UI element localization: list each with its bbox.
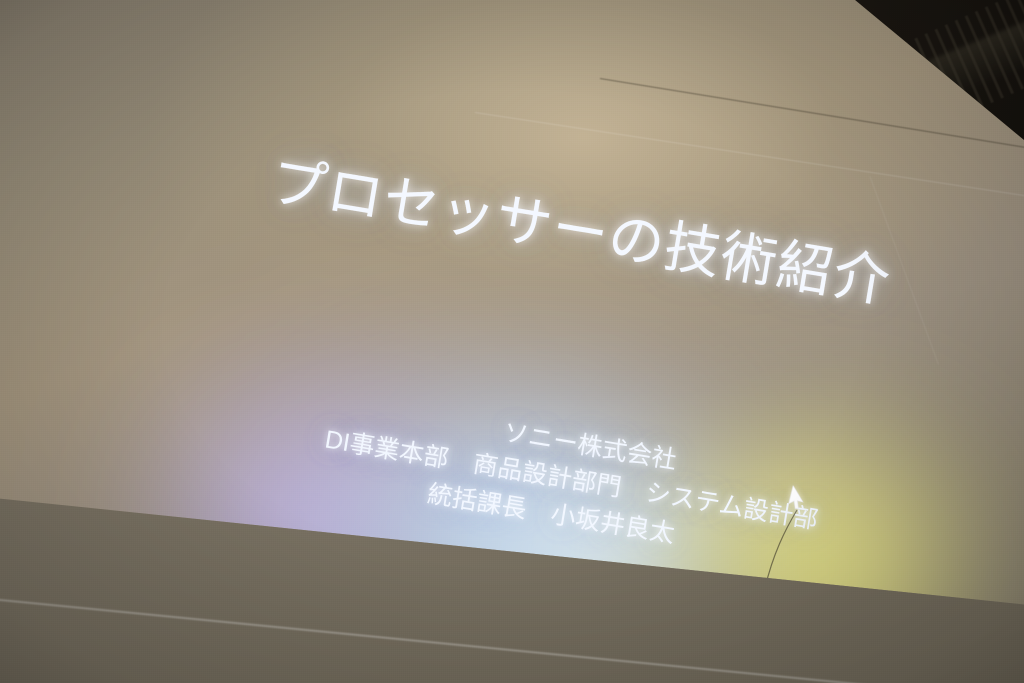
projected-slide-photo: プロセッサーの技術紹介 ソニー株式会社 DI事業本部 商品設計部門 システム設計… — [0, 0, 1024, 683]
